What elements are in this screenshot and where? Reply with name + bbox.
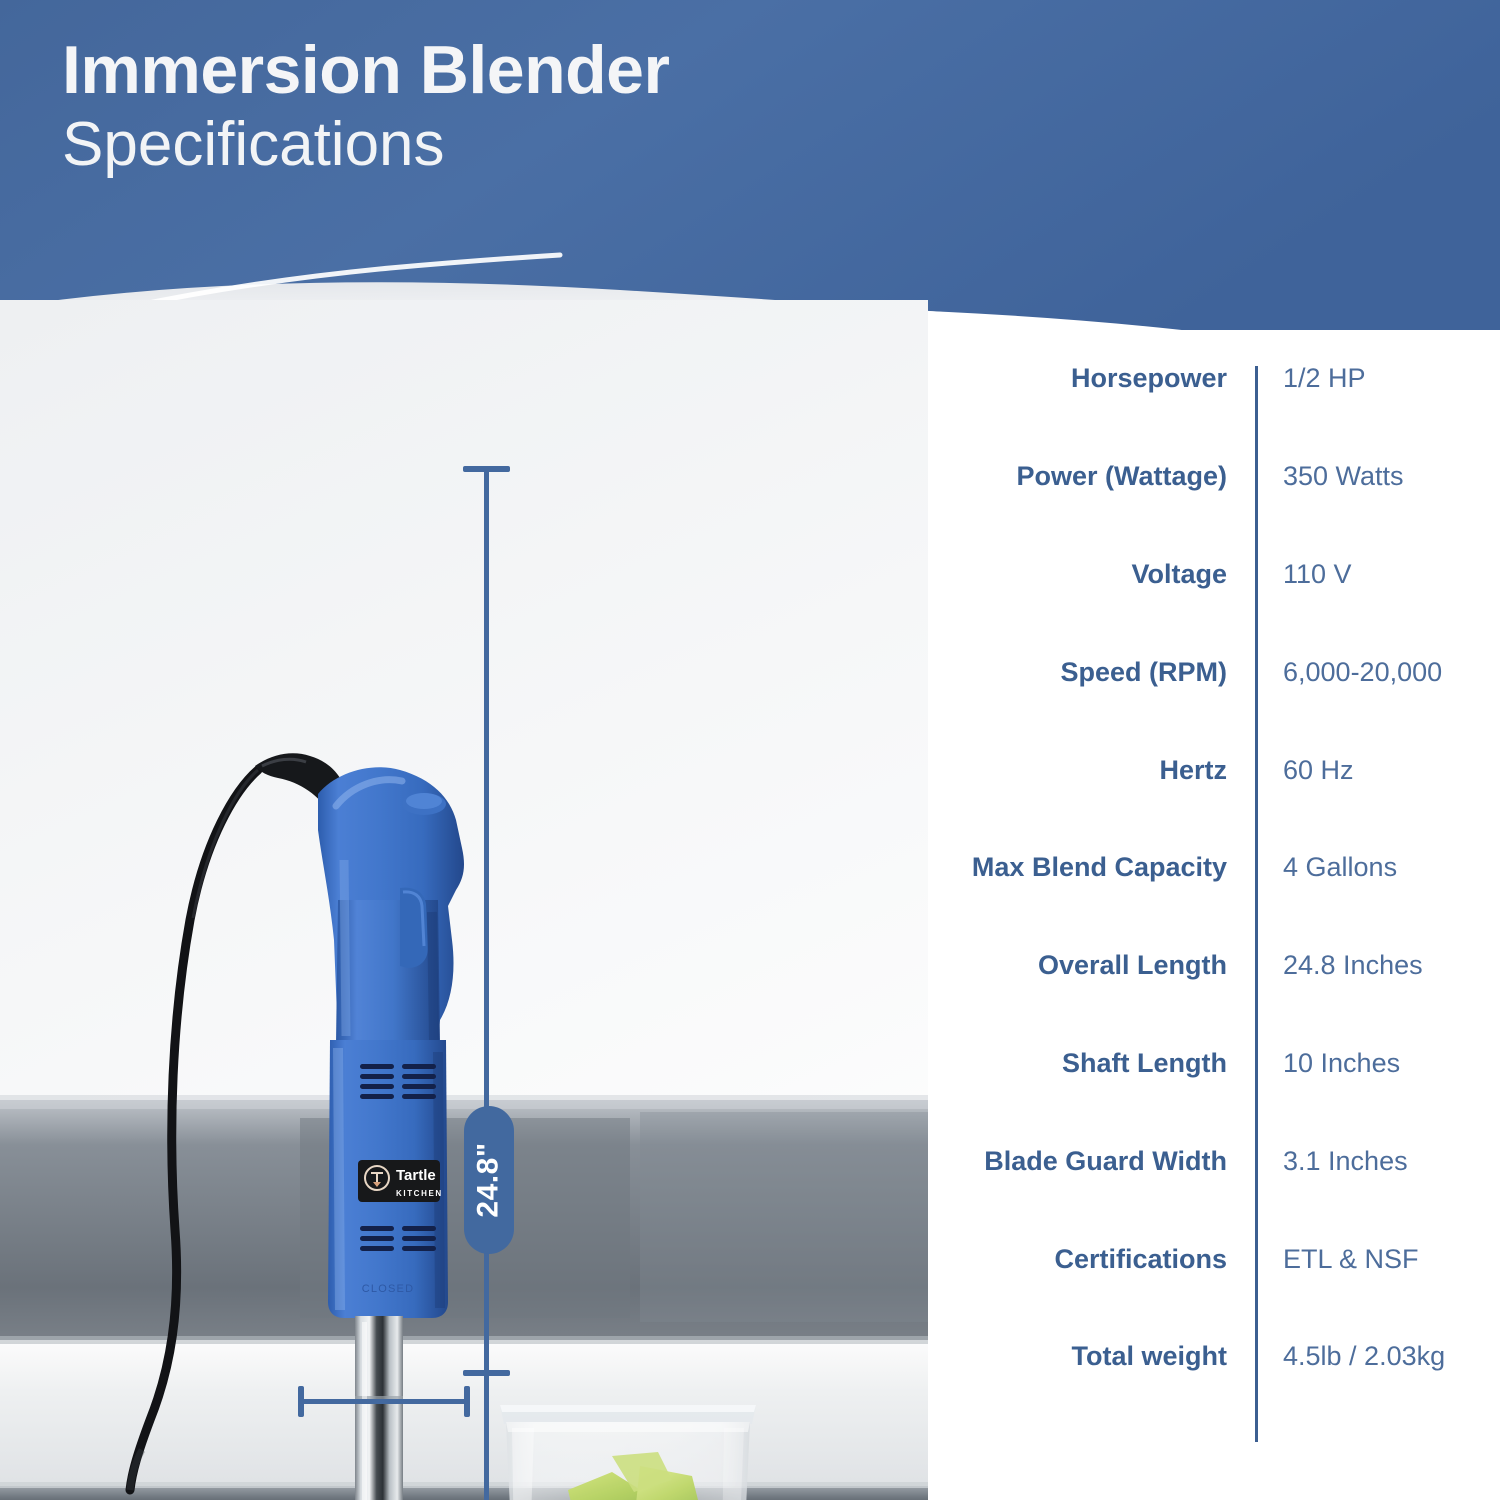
table-row: Total weight 4.5lb / 2.03kg	[928, 1308, 1500, 1406]
header-text-block: Immersion Blender Specifications	[62, 36, 669, 179]
spec-label: Certifications	[928, 1244, 1255, 1275]
food-container	[500, 1405, 756, 1500]
spec-value: 6,000-20,000	[1255, 657, 1500, 688]
brand-label: Tartle KITCHEN	[358, 1160, 443, 1202]
specifications-panel: Horsepower 1/2 HP Power (Wattage) 350 Wa…	[928, 330, 1500, 1500]
spec-value: 4.5lb / 2.03kg	[1255, 1341, 1500, 1372]
svg-text:Tartle: Tartle	[396, 1167, 436, 1184]
specifications-table: Horsepower 1/2 HP Power (Wattage) 350 Wa…	[928, 330, 1500, 1406]
spec-value: 10 Inches	[1255, 1048, 1500, 1079]
spec-label: Shaft Length	[928, 1048, 1255, 1079]
table-row: Overall Length 24.8 Inches	[928, 917, 1500, 1015]
spec-value: 350 Watts	[1255, 461, 1500, 492]
spec-label: Speed (RPM)	[928, 657, 1255, 688]
page-header: Immersion Blender Specifications	[0, 0, 1500, 340]
table-row: Shaft Length 10 Inches	[928, 1015, 1500, 1113]
product-photo: Tartle KITCHEN CLOSED	[0, 300, 928, 1500]
spec-value: 110 V	[1255, 559, 1500, 590]
spec-value: 24.8 Inches	[1255, 950, 1500, 981]
spec-value: 1/2 HP	[1255, 363, 1500, 394]
spec-value: 60 Hz	[1255, 755, 1500, 786]
spec-label: Voltage	[928, 559, 1255, 590]
table-row: Max Blend Capacity 4 Gallons	[928, 819, 1500, 917]
closed-marking: CLOSED	[362, 1283, 414, 1295]
spec-label: Horsepower	[928, 363, 1255, 394]
svg-text:KITCHEN: KITCHEN	[396, 1189, 443, 1198]
spec-label: Total weight	[928, 1341, 1255, 1372]
callout-overall-height-label: 24.8"	[472, 1142, 506, 1217]
spec-label: Blade Guard Width	[928, 1146, 1255, 1177]
table-row: Certifications ETL & NSF	[928, 1210, 1500, 1308]
table-row: Voltage 110 V	[928, 526, 1500, 624]
page-subtitle: Specifications	[62, 110, 669, 179]
spec-label: Power (Wattage)	[928, 461, 1255, 492]
spec-label: Hertz	[928, 755, 1255, 786]
table-row: Horsepower 1/2 HP	[928, 330, 1500, 428]
spec-label: Overall Length	[928, 950, 1255, 981]
table-row: Hertz 60 Hz	[928, 721, 1500, 819]
spec-table-divider	[1255, 366, 1258, 1442]
spec-value: 3.1 Inches	[1255, 1146, 1500, 1177]
product-photo-panel: Tartle KITCHEN CLOSED	[0, 300, 928, 1500]
spec-label: Max Blend Capacity	[928, 852, 1255, 883]
page-title: Immersion Blender	[62, 36, 669, 104]
spec-value: 4 Gallons	[1255, 852, 1500, 883]
table-row: Power (Wattage) 350 Watts	[928, 428, 1500, 526]
table-row: Speed (RPM) 6,000-20,000	[928, 623, 1500, 721]
callout-overall-height: 24.8"	[464, 1106, 514, 1254]
table-row: Blade Guard Width 3.1 Inches	[928, 1112, 1500, 1210]
spec-value: ETL & NSF	[1255, 1244, 1500, 1275]
